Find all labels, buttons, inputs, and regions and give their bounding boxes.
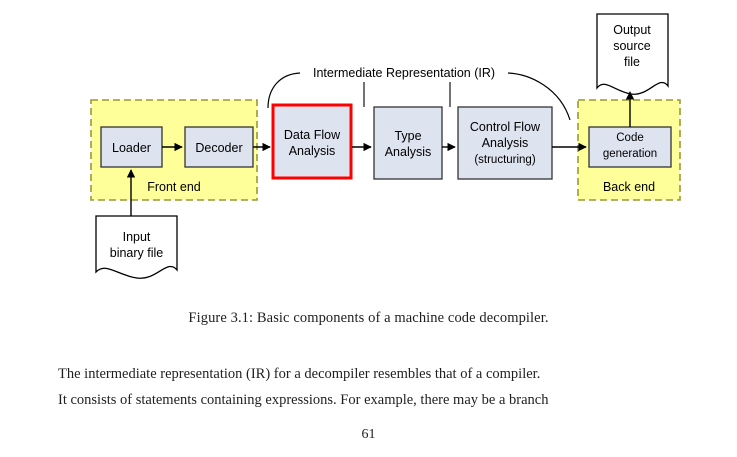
node-code-generation-label-line2: generation	[603, 148, 657, 160]
node-control-flow-analysis-label-line2: Analysis	[482, 136, 529, 150]
figure-3-1: Front end Back end Intermediate Represen…	[0, 0, 737, 300]
page-number: 61	[0, 427, 737, 443]
node-data-flow-analysis-label-line1: Data Flow	[284, 128, 341, 142]
figure-caption: Figure 3.1: Basic components of a machin…	[0, 310, 737, 327]
ir-label: Intermediate Representation (IR)	[313, 66, 495, 80]
region-front-end-label: Front end	[147, 180, 201, 194]
document-page: Front end Back end Intermediate Represen…	[0, 0, 737, 457]
node-type-analysis[interactable]	[374, 107, 442, 179]
node-code-generation-label-line1: Code	[616, 132, 644, 144]
node-output-source-file-label-line2: source	[613, 39, 651, 53]
node-type-analysis-label-line1: Type	[394, 129, 421, 143]
node-control-flow-analysis-label-line1: Control Flow	[470, 120, 541, 134]
body-line-1: The intermediate representation (IR) for…	[58, 361, 680, 387]
node-decoder-label: Decoder	[195, 141, 242, 155]
body-line-2: It consists of statements containing exp…	[58, 387, 680, 413]
ir-bracket-left	[268, 73, 300, 108]
node-loader-label: Loader	[112, 141, 151, 155]
node-output-source-file-label-line1: Output	[613, 23, 651, 37]
node-output-source-file-label-line3: file	[624, 55, 640, 69]
decompiler-pipeline-diagram: Front end Back end Intermediate Represen…	[0, 0, 737, 300]
body-paragraph: The intermediate representation (IR) for…	[58, 361, 680, 413]
node-data-flow-analysis-label-line2: Analysis	[289, 144, 336, 158]
node-input-binary-file-label-line1: Input	[123, 230, 151, 244]
region-back-end-label: Back end	[603, 180, 655, 194]
node-control-flow-analysis-label-line3: (structuring)	[474, 154, 536, 166]
node-type-analysis-label-line2: Analysis	[385, 145, 432, 159]
node-input-binary-file-label-line2: binary file	[110, 246, 164, 260]
